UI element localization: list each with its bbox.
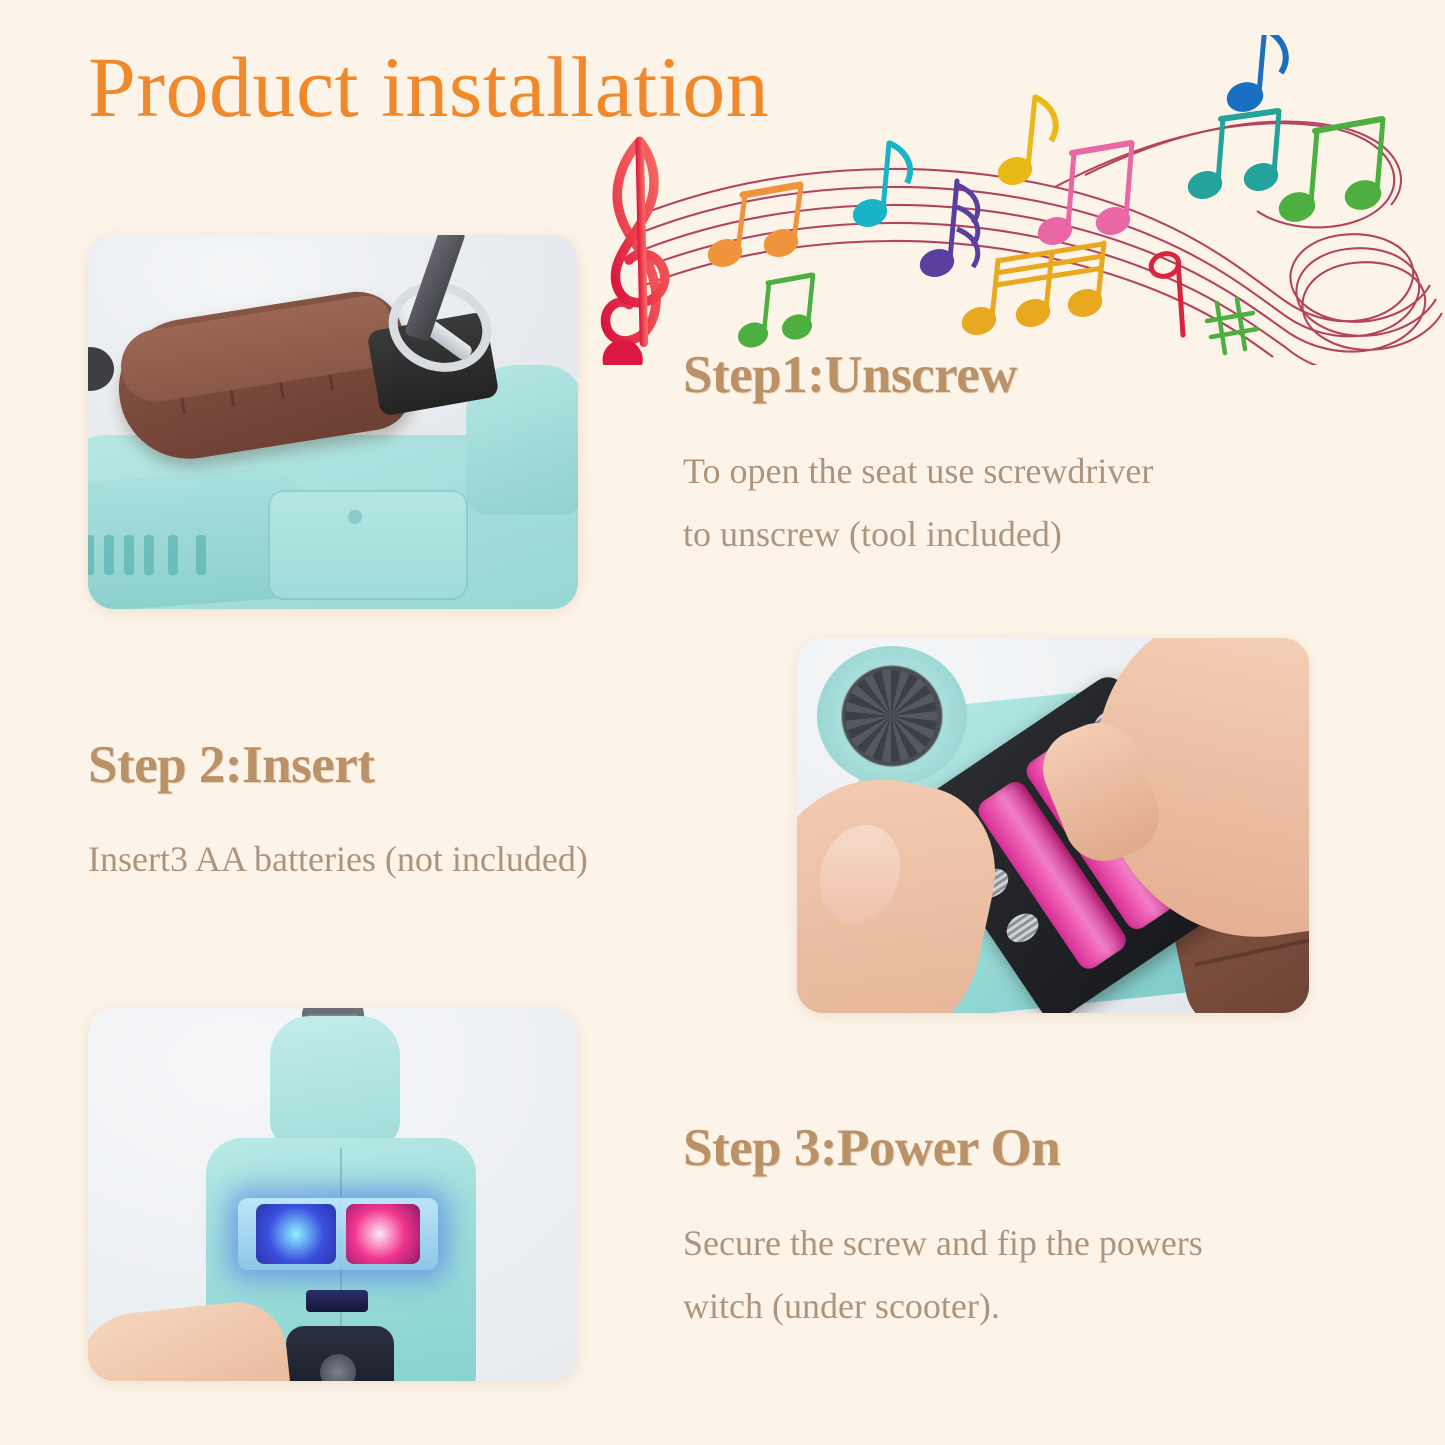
- photo-seat-unscrew: [88, 235, 578, 609]
- step-2-heading: Step 2:Insert: [88, 735, 374, 795]
- step-2-body-line-1: Insert3 AA batteries (not included): [88, 828, 588, 891]
- step-1-heading: Step1:Unscrew: [683, 345, 1017, 405]
- step-3-body: Secure the screw and fip the powers witc…: [683, 1212, 1203, 1338]
- step-3-heading: Step 3:Power On: [683, 1118, 1060, 1178]
- step-1-body: To open the seat use screwdriver to unsc…: [683, 440, 1153, 566]
- music-staff-decoration: [585, 35, 1445, 365]
- step-3-body-line-1: Secure the screw and fip the powers: [683, 1212, 1203, 1275]
- step-2-body: Insert3 AA batteries (not included): [88, 828, 588, 891]
- step-1-body-line-2: to unscrew (tool included): [683, 503, 1153, 566]
- infographic-page: Product installation: [0, 0, 1445, 1445]
- photo-power-on: [88, 1008, 578, 1381]
- photo-insert-batteries: [797, 638, 1309, 1013]
- step-3-body-line-2: witch (under scooter).: [683, 1275, 1203, 1338]
- step-1-body-line-1: To open the seat use screwdriver: [683, 440, 1153, 503]
